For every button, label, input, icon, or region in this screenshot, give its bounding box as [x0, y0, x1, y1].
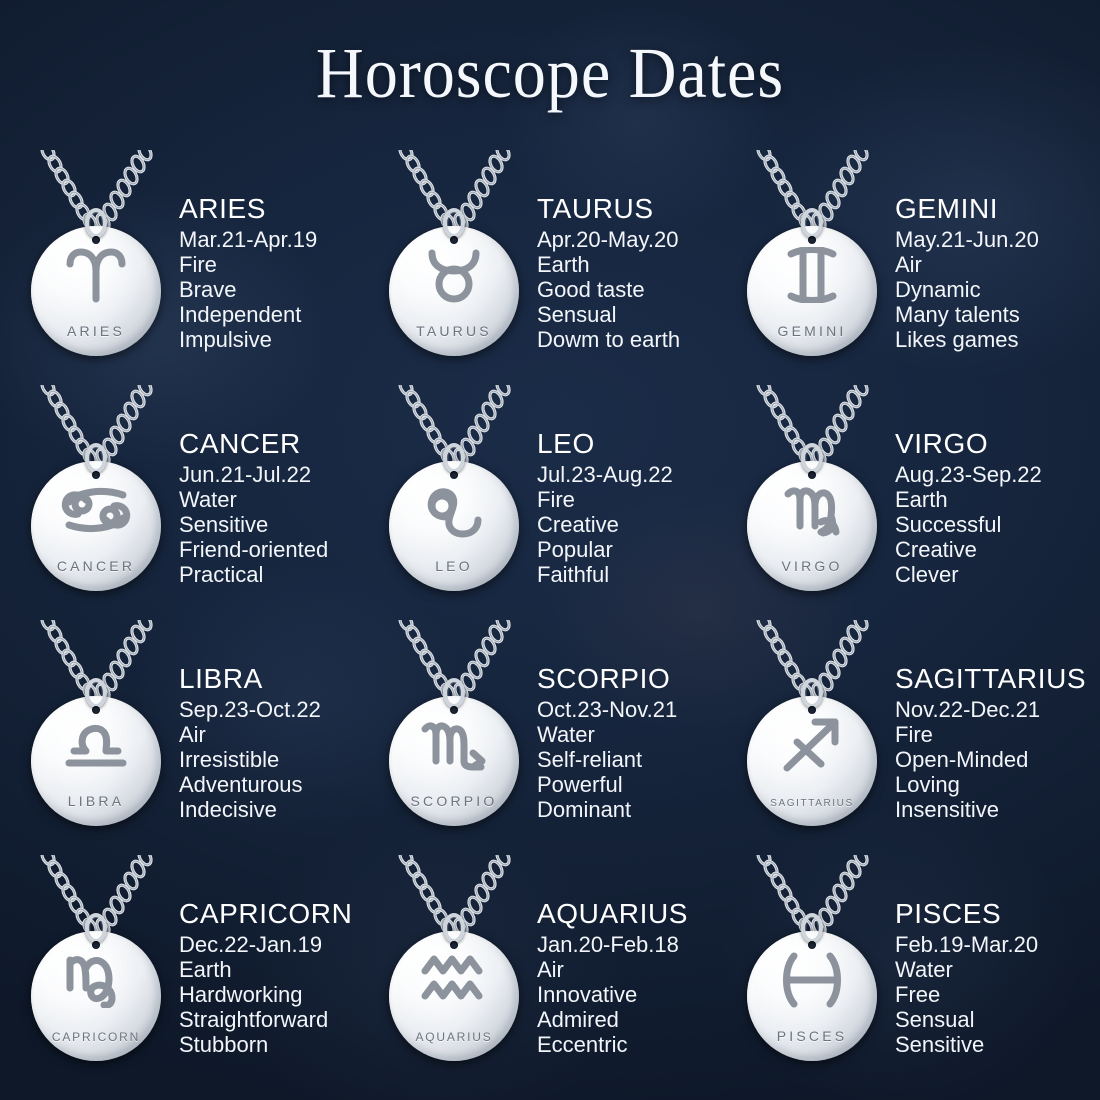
- sign-trait: Likes games: [895, 327, 1088, 352]
- disc-hole: [808, 706, 816, 714]
- sign-dates: Feb.19-Mar.20: [895, 932, 1088, 957]
- sign-name: CANCER: [179, 427, 372, 460]
- sign-trait: Good taste: [537, 277, 730, 302]
- scorpio-glyph: [389, 708, 519, 782]
- sagittarius-glyph: [747, 708, 877, 782]
- sign-element: Air: [895, 252, 1088, 277]
- pisces-glyph: [747, 943, 877, 1017]
- necklace-pendant: PISCES: [730, 855, 895, 1090]
- medallion-disc: TAURUS: [389, 226, 519, 356]
- sign-trait: Dominant: [537, 797, 730, 822]
- sign-name: LEO: [537, 427, 730, 460]
- sign-info: VIRGOAug.23-Sep.22EarthSuccessfulCreativ…: [895, 385, 1088, 620]
- sign-element: Earth: [179, 957, 372, 982]
- sign-dates: Sep.23-Oct.22: [179, 697, 372, 722]
- sign-info: CAPRICORNDec.22-Jan.19EarthHardworkingSt…: [179, 855, 372, 1090]
- sign-trait: Successful: [895, 512, 1088, 537]
- sign-name: VIRGO: [895, 427, 1088, 460]
- sign-dates: Oct.23-Nov.21: [537, 697, 730, 722]
- medallion-disc: CAPRICORN: [31, 931, 161, 1061]
- bail-ring: [443, 443, 465, 473]
- disc-hole: [808, 236, 816, 244]
- sign-trait: Insensitive: [895, 797, 1088, 822]
- medallion-engraved-label: SCORPIO: [389, 793, 519, 809]
- sign-trait: Impulsive: [179, 327, 372, 352]
- sign-trait: Faithful: [537, 562, 730, 587]
- sign-trait: Creative: [895, 537, 1088, 562]
- medallion-disc: AQUARIUS: [389, 931, 519, 1061]
- sign-dates: Jun.21-Jul.22: [179, 462, 372, 487]
- virgo-glyph: [747, 473, 877, 547]
- disc-hole: [450, 236, 458, 244]
- gemini-glyph: [747, 238, 877, 312]
- sign-dates: Apr.20-May.20: [537, 227, 730, 252]
- bail-ring: [85, 913, 107, 943]
- disc-hole: [92, 236, 100, 244]
- zodiac-card-pisces: PISCESPISCESFeb.19-Mar.20WaterFreeSensua…: [730, 855, 1088, 1090]
- sign-trait: Self-reliant: [537, 747, 730, 772]
- sign-name: SCORPIO: [537, 662, 730, 695]
- sign-element: Earth: [537, 252, 730, 277]
- sign-info: SAGITTARIUSNov.22-Dec.21FireOpen-MindedL…: [895, 620, 1088, 855]
- zodiac-card-scorpio: SCORPIOSCORPIOOct.23-Nov.21WaterSelf-rel…: [372, 620, 730, 855]
- sign-trait: Hardworking: [179, 982, 372, 1007]
- zodiac-card-gemini: GEMINIGEMINIMay.21-Jun.20AirDynamicMany …: [730, 150, 1088, 385]
- sign-name: CAPRICORN: [179, 897, 372, 930]
- sign-trait: Irresistible: [179, 747, 372, 772]
- zodiac-card-leo: LEOLEOJul.23-Aug.22FireCreativePopularFa…: [372, 385, 730, 620]
- medallion-engraved-label: CAPRICORN: [31, 1030, 161, 1044]
- zodiac-card-aries: ARIESARIESMar.21-Apr.19FireBraveIndepend…: [14, 150, 372, 385]
- sign-trait: Brave: [179, 277, 372, 302]
- bail-ring: [85, 443, 107, 473]
- sign-dates: Jul.23-Aug.22: [537, 462, 730, 487]
- bail-ring: [85, 678, 107, 708]
- medallion-engraved-label: VIRGO: [747, 558, 877, 574]
- sign-info: LIBRASep.23-Oct.22AirIrresistibleAdventu…: [179, 620, 372, 855]
- disc-hole: [808, 941, 816, 949]
- sign-element: Air: [537, 957, 730, 982]
- sign-trait: Stubborn: [179, 1032, 372, 1057]
- medallion-disc: SCORPIO: [389, 696, 519, 826]
- disc-hole: [92, 471, 100, 479]
- medallion-disc: VIRGO: [747, 461, 877, 591]
- medallion-engraved-label: GEMINI: [747, 323, 877, 339]
- sign-element: Fire: [179, 252, 372, 277]
- capricorn-glyph: [31, 943, 161, 1017]
- sign-info: AQUARIUSJan.20-Feb.18AirInnovativeAdmire…: [537, 855, 730, 1090]
- zodiac-card-libra: LIBRALIBRASep.23-Oct.22AirIrresistibleAd…: [14, 620, 372, 855]
- sign-trait: Sensitive: [895, 1032, 1088, 1057]
- sign-trait: Many talents: [895, 302, 1088, 327]
- sign-info: SCORPIOOct.23-Nov.21WaterSelf-reliantPow…: [537, 620, 730, 855]
- sign-dates: Dec.22-Jan.19: [179, 932, 372, 957]
- medallion-disc: LIBRA: [31, 696, 161, 826]
- bail-ring: [443, 913, 465, 943]
- medallion-disc: CANCER: [31, 461, 161, 591]
- sign-element: Air: [179, 722, 372, 747]
- sign-trait: Open-Minded: [895, 747, 1088, 772]
- medallion-disc: ARIES: [31, 226, 161, 356]
- sign-trait: Independent: [179, 302, 372, 327]
- necklace-pendant: AQUARIUS: [372, 855, 537, 1090]
- bail-ring: [443, 208, 465, 238]
- bail-ring: [801, 443, 823, 473]
- necklace-pendant: CAPRICORN: [14, 855, 179, 1090]
- medallion-engraved-label: LEO: [389, 558, 519, 574]
- disc-hole: [450, 706, 458, 714]
- horoscope-poster: Horoscope Dates ARIESARIESMar.21-Apr.19F…: [0, 0, 1100, 1100]
- zodiac-card-capricorn: CAPRICORNCAPRICORNDec.22-Jan.19EarthHard…: [14, 855, 372, 1090]
- necklace-pendant: TAURUS: [372, 150, 537, 385]
- sign-element: Fire: [895, 722, 1088, 747]
- medallion-engraved-label: SAGITTARIUS: [747, 798, 877, 809]
- zodiac-card-aquarius: AQUARIUSAQUARIUSJan.20-Feb.18AirInnovati…: [372, 855, 730, 1090]
- sign-trait: Popular: [537, 537, 730, 562]
- medallion-engraved-label: CANCER: [31, 558, 161, 574]
- bail-ring: [801, 913, 823, 943]
- aries-glyph: [31, 238, 161, 312]
- medallion-engraved-label: PISCES: [747, 1028, 877, 1044]
- sign-trait: Loving: [895, 772, 1088, 797]
- sign-trait: Free: [895, 982, 1088, 1007]
- sign-info: PISCESFeb.19-Mar.20WaterFreeSensualSensi…: [895, 855, 1088, 1090]
- sign-trait: Indecisive: [179, 797, 372, 822]
- necklace-pendant: CANCER: [14, 385, 179, 620]
- page-title: Horoscope Dates: [44, 34, 1056, 112]
- bail-ring: [443, 678, 465, 708]
- sign-name: PISCES: [895, 897, 1088, 930]
- sign-element: Water: [179, 487, 372, 512]
- disc-hole: [808, 471, 816, 479]
- sign-dates: May.21-Jun.20: [895, 227, 1088, 252]
- disc-hole: [450, 941, 458, 949]
- disc-hole: [450, 471, 458, 479]
- disc-hole: [92, 941, 100, 949]
- sign-trait: Straightforward: [179, 1007, 372, 1032]
- sign-element: Earth: [895, 487, 1088, 512]
- bail-ring: [801, 208, 823, 238]
- zodiac-card-taurus: TAURUSTAURUSApr.20-May.20EarthGood taste…: [372, 150, 730, 385]
- medallion-disc: LEO: [389, 461, 519, 591]
- zodiac-card-sagittarius: SAGITTARIUSSAGITTARIUSNov.22-Dec.21FireO…: [730, 620, 1088, 855]
- cancer-glyph: [31, 473, 161, 547]
- sign-info: TAURUSApr.20-May.20EarthGood tasteSensua…: [537, 150, 730, 385]
- sign-trait: Clever: [895, 562, 1088, 587]
- taurus-glyph: [389, 238, 519, 312]
- sign-info: CANCERJun.21-Jul.22WaterSensitiveFriend-…: [179, 385, 372, 620]
- leo-glyph: [389, 473, 519, 547]
- sign-element: Water: [895, 957, 1088, 982]
- sign-dates: Mar.21-Apr.19: [179, 227, 372, 252]
- aquarius-glyph: [389, 943, 519, 1017]
- sign-name: SAGITTARIUS: [895, 662, 1088, 695]
- sign-trait: Dowm to earth: [537, 327, 730, 352]
- necklace-pendant: SAGITTARIUS: [730, 620, 895, 855]
- necklace-pendant: VIRGO: [730, 385, 895, 620]
- sign-name: GEMINI: [895, 192, 1088, 225]
- sign-trait: Eccentric: [537, 1032, 730, 1057]
- medallion-disc: GEMINI: [747, 226, 877, 356]
- medallion-engraved-label: LIBRA: [31, 793, 161, 809]
- sign-info: ARIESMar.21-Apr.19FireBraveIndependentIm…: [179, 150, 372, 385]
- zodiac-card-cancer: CANCERCANCERJun.21-Jul.22WaterSensitiveF…: [14, 385, 372, 620]
- sign-dates: Jan.20-Feb.18: [537, 932, 730, 957]
- sign-name: LIBRA: [179, 662, 372, 695]
- bail-ring: [85, 208, 107, 238]
- necklace-pendant: LEO: [372, 385, 537, 620]
- sign-trait: Practical: [179, 562, 372, 587]
- sign-dates: Aug.23-Sep.22: [895, 462, 1088, 487]
- necklace-pendant: LIBRA: [14, 620, 179, 855]
- sign-trait: Sensual: [895, 1007, 1088, 1032]
- sign-info: GEMINIMay.21-Jun.20AirDynamicMany talent…: [895, 150, 1088, 385]
- sign-trait: Sensitive: [179, 512, 372, 537]
- sign-element: Fire: [537, 487, 730, 512]
- sign-dates: Nov.22-Dec.21: [895, 697, 1088, 722]
- sign-name: ARIES: [179, 192, 372, 225]
- medallion-disc: PISCES: [747, 931, 877, 1061]
- zodiac-grid: ARIESARIESMar.21-Apr.19FireBraveIndepend…: [14, 150, 1089, 1090]
- medallion-engraved-label: AQUARIUS: [389, 1030, 519, 1044]
- sign-trait: Admired: [537, 1007, 730, 1032]
- disc-hole: [92, 706, 100, 714]
- sign-name: AQUARIUS: [537, 897, 730, 930]
- sign-trait: Sensual: [537, 302, 730, 327]
- libra-glyph: [31, 708, 161, 782]
- zodiac-card-virgo: VIRGOVIRGOAug.23-Sep.22EarthSuccessfulCr…: [730, 385, 1088, 620]
- sign-trait: Innovative: [537, 982, 730, 1007]
- sign-trait: Dynamic: [895, 277, 1088, 302]
- medallion-engraved-label: TAURUS: [389, 323, 519, 339]
- sign-info: LEOJul.23-Aug.22FireCreativePopularFaith…: [537, 385, 730, 620]
- sign-trait: Creative: [537, 512, 730, 537]
- necklace-pendant: ARIES: [14, 150, 179, 385]
- sign-element: Water: [537, 722, 730, 747]
- necklace-pendant: GEMINI: [730, 150, 895, 385]
- sign-trait: Powerful: [537, 772, 730, 797]
- medallion-engraved-label: ARIES: [31, 323, 161, 339]
- medallion-disc: SAGITTARIUS: [747, 696, 877, 826]
- sign-trait: Adventurous: [179, 772, 372, 797]
- necklace-pendant: SCORPIO: [372, 620, 537, 855]
- bail-ring: [801, 678, 823, 708]
- sign-trait: Friend-oriented: [179, 537, 372, 562]
- sign-name: TAURUS: [537, 192, 730, 225]
